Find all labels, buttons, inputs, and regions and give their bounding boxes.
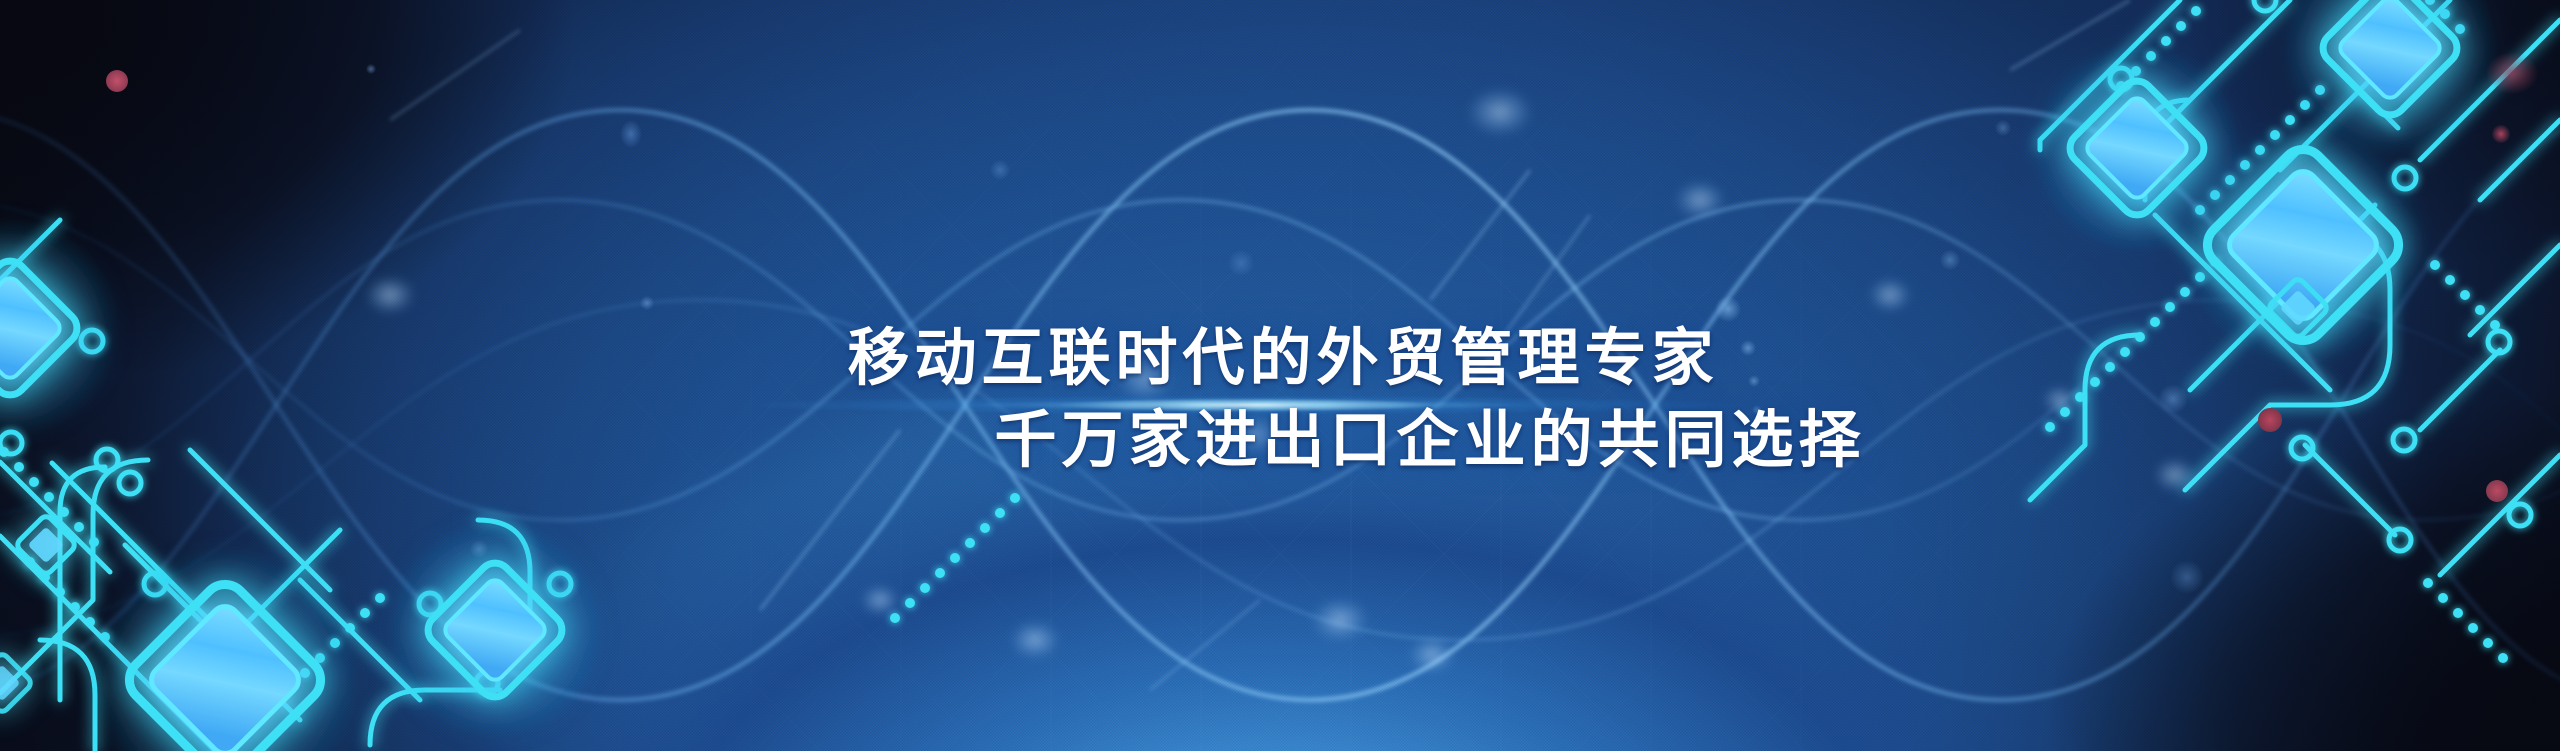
circuit-left-cluster xyxy=(0,218,1020,751)
bokeh-dot xyxy=(366,64,376,74)
bokeh-dot xyxy=(1228,250,1254,276)
headline-line-2: 千万家进出口企业的共同选择 xyxy=(0,400,2560,482)
glowing-diamond xyxy=(2316,0,2463,122)
bokeh-dot xyxy=(620,120,642,148)
bokeh-dot xyxy=(1995,120,2011,136)
accent-crimson-dot xyxy=(2492,125,2510,143)
glowing-diamond xyxy=(120,575,329,751)
bokeh-dot xyxy=(2170,560,2204,594)
bokeh-dot xyxy=(470,540,488,558)
bokeh-dot xyxy=(1940,250,1960,270)
accent-crimson-dot xyxy=(2486,52,2538,94)
glowing-diamond xyxy=(15,514,77,576)
accent-crimson-dot xyxy=(106,70,128,92)
glowing-diamond xyxy=(421,556,568,703)
glowing-diamond xyxy=(2063,74,2210,221)
glowing-diamond xyxy=(0,652,33,714)
hero-banner: 移动互联时代的外贸管理专家 千万家进出口企业的共同选择 xyxy=(0,0,2560,751)
bokeh-dot xyxy=(990,160,1010,180)
headline-line-1: 移动互联时代的外贸管理专家 xyxy=(0,318,2560,400)
accent-crimson-dot xyxy=(2486,480,2508,502)
bokeh-dot xyxy=(640,296,654,310)
page-title: 移动互联时代的外贸管理专家 千万家进出口企业的共同选择 xyxy=(0,318,2560,482)
